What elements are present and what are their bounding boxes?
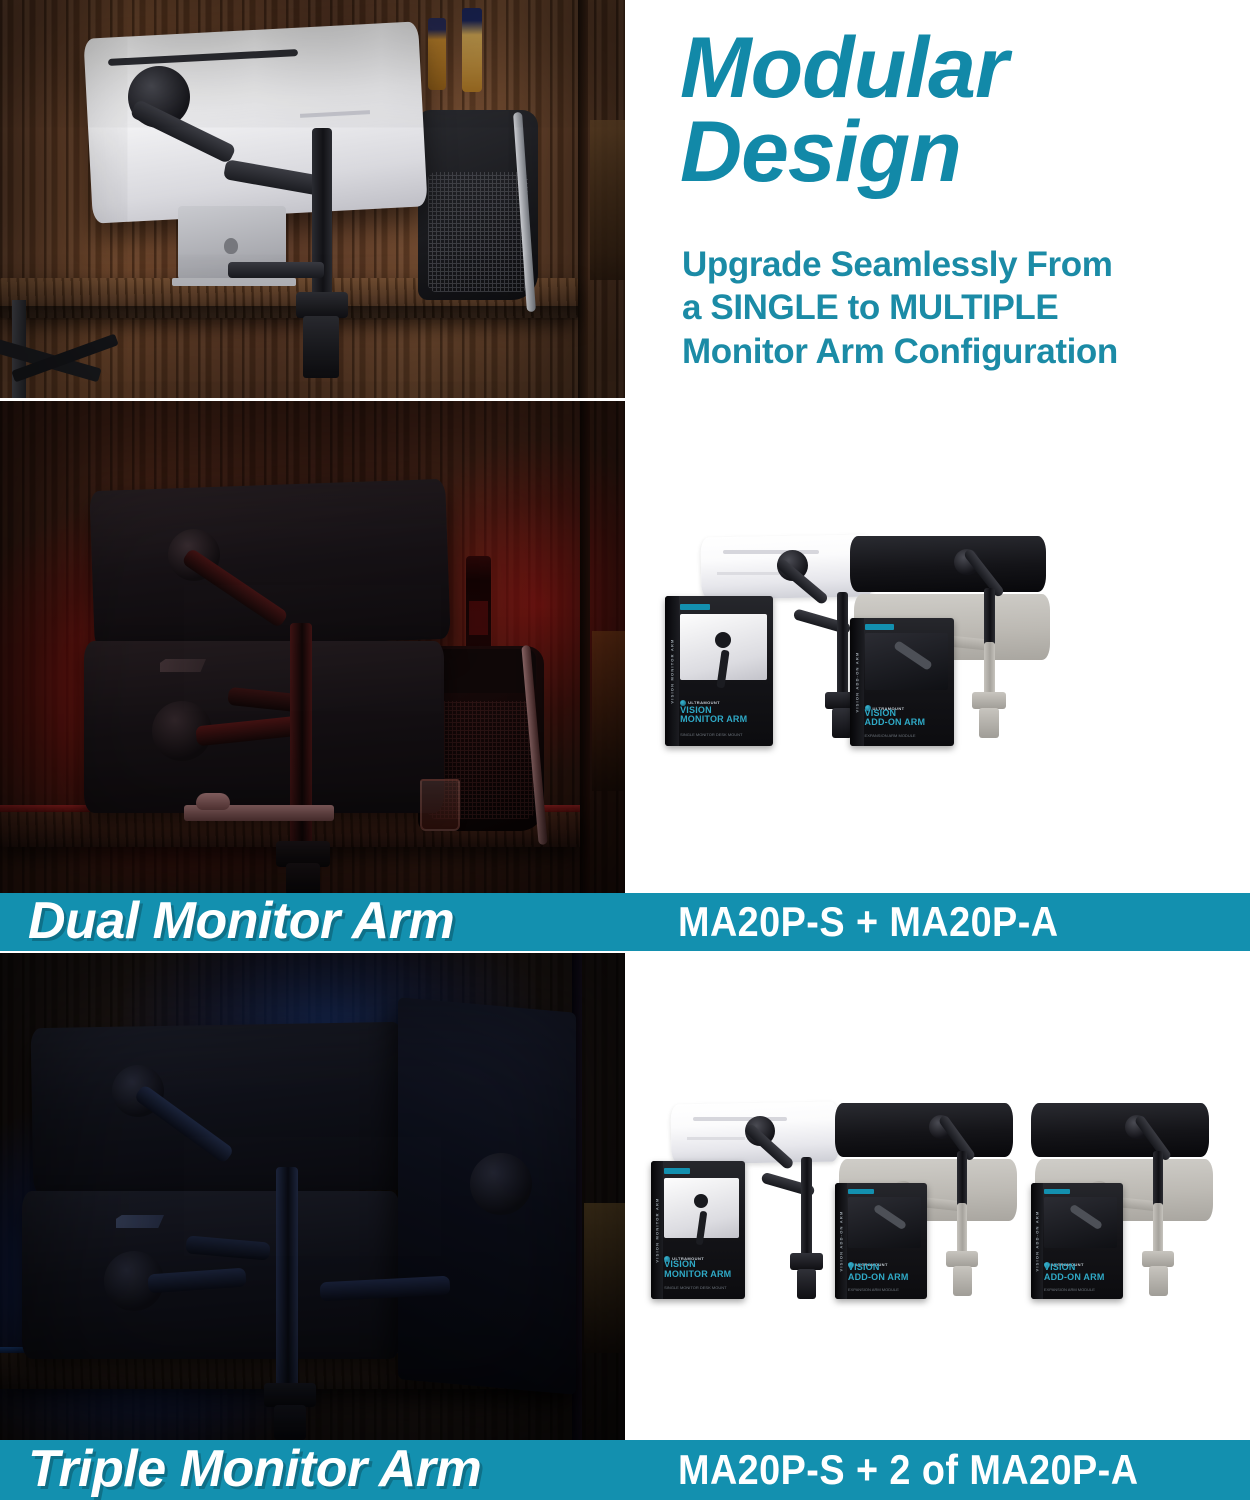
page-title: Modular Design [680, 26, 1240, 195]
package-spine: VISION MONITOR ARM [665, 596, 679, 746]
package-box-addon-t3: VISION ADD-ON ARM ULTRAMOUNT VISION ADD-… [1031, 1183, 1123, 1299]
package-spine-text: VISION MONITOR ARM [670, 638, 675, 703]
photo-dual-monitor [0, 401, 625, 895]
banner-dual: Dual Monitor Arm MA20P-S + MA20P-A [0, 893, 1250, 951]
banner-dual-title: Dual Monitor Arm [28, 891, 454, 951]
config-row-dual: VISION MONITOR ARM ULTRAMOUNT VISION MON… [625, 401, 1250, 893]
config-item-dual-2: VISION ADD-ON ARM ULTRAMOUNT VISION ADD-… [850, 536, 1080, 766]
config-item-triple-3: VISION ADD-ON ARM ULTRAMOUNT VISION ADD-… [1031, 1103, 1231, 1333]
subhead-line-3: Monitor Arm Configuration [682, 330, 1250, 373]
package-teal-bar-base-t [664, 1168, 690, 1174]
package-spine-text-addon-t2: VISION ADD-ON ARM [838, 1211, 843, 1272]
package-product-name: VISION MONITOR ARM [680, 706, 766, 725]
subhead-line-2: a SINGLE to MULTIPLE [682, 286, 1250, 329]
photo-vignette-blue [0, 953, 625, 1440]
config-post-black-t3 [1153, 1151, 1163, 1207]
config-item-triple-1: VISION MONITOR ARM ULTRAMOUNT VISION MON… [651, 1103, 841, 1333]
config-item-dual-1: VISION MONITOR ARM ULTRAMOUNT VISION MON… [665, 536, 875, 766]
config-clamp-ghost-t3 [1142, 1251, 1174, 1267]
package-spine-addon-t2: VISION ADD-ON ARM [835, 1183, 847, 1299]
package-spine-text-base-t: VISION MONITOR ARM [655, 1197, 660, 1262]
package-product-name-base-t: VISION MONITOR ARM [664, 1260, 739, 1279]
package-teal-bar-addon [865, 624, 894, 629]
photo-vignette-red [0, 401, 625, 895]
package-tagline-addon: EXPANSION ARM MODULE [865, 734, 948, 738]
config-post-ghost-t2 [957, 1203, 967, 1255]
package-product-name-addon-t2: VISION ADD-ON ARM [848, 1263, 922, 1282]
config-post-ghost [984, 642, 995, 698]
config-monitor-black-t3 [1031, 1103, 1209, 1157]
package-tagline: SINGLE MONITOR DESK MOUNT [680, 733, 766, 737]
config-monitor-white-accent [717, 572, 779, 575]
banner-dual-sku: MA20P-S + MA20P-A [678, 898, 1101, 946]
package-spine-addon: VISION ADD-ON ARM [850, 618, 864, 746]
package-teal-bar [680, 604, 710, 610]
config-clamp-t [790, 1253, 823, 1270]
config-clamp-screw [832, 708, 852, 738]
package-window-addon [865, 633, 948, 689]
headline-line-2: Design [680, 110, 1240, 194]
config-monitor-white-slot-t [693, 1117, 787, 1121]
config-item-triple-2: VISION ADD-ON ARM ULTRAMOUNT VISION ADD-… [835, 1103, 1035, 1333]
config-post-t [801, 1157, 812, 1259]
config-post-black-t2 [957, 1151, 967, 1207]
config-post-ghost-t3 [1153, 1203, 1163, 1255]
package-box-addon: VISION ADD-ON ARM ULTRAMOUNT VISION ADD-… [850, 618, 954, 746]
banner-triple-title: Triple Monitor Arm [28, 1439, 481, 1499]
photo-triple-monitor [0, 953, 625, 1440]
package-teal-bar-addon-t3 [1044, 1189, 1070, 1194]
config-clamp-screw-ghost-t2 [953, 1266, 972, 1296]
config-clamp-screw-t [797, 1269, 816, 1299]
package-spine-text-addon: VISION ADD-ON ARM [854, 652, 859, 713]
config-clamp-screw-ghost [979, 708, 999, 738]
package-box-base: VISION MONITOR ARM ULTRAMOUNT VISION MON… [665, 596, 773, 746]
package-window-addon-t2 [848, 1197, 922, 1248]
package-spine-base-t: VISION MONITOR ARM [651, 1161, 663, 1299]
package-spine-text-addon-t3: VISION ADD-ON ARM [1034, 1211, 1039, 1272]
config-clamp-ghost-t2 [946, 1251, 978, 1267]
infographic-page: Dual Monitor Arm MA20P-S + MA20P-A VISIO… [0, 0, 1250, 1500]
package-spine-addon-t3: VISION ADD-ON ARM [1031, 1183, 1043, 1299]
config-post-black [984, 588, 995, 646]
config-monitor-white-accent-t [687, 1137, 745, 1140]
config-row-triple: VISION MONITOR ARM ULTRAMOUNT VISION MON… [625, 953, 1250, 1440]
page-subtitle: Upgrade Seamlessly From a SINGLE to MULT… [682, 243, 1250, 373]
package-window-arm [715, 632, 731, 648]
config-monitor-white-slot [723, 550, 819, 554]
config-monitor-black-t2 [835, 1103, 1013, 1157]
package-tagline-base-t: SINGLE MONITOR DESK MOUNT [664, 1286, 739, 1290]
photo-single-monitor [0, 0, 625, 400]
package-tagline-addon-t2: EXPANSION ARM MODULE [848, 1288, 922, 1292]
headline-block: Modular Design Upgrade Seamlessly From a… [625, 0, 1250, 400]
package-box-addon-t2: VISION ADD-ON ARM ULTRAMOUNT VISION ADD-… [835, 1183, 927, 1299]
package-teal-bar-addon-t2 [848, 1189, 874, 1194]
package-box-base-t: VISION MONITOR ARM ULTRAMOUNT VISION MON… [651, 1161, 745, 1299]
config-monitor-black [850, 536, 1046, 592]
package-tagline-addon-t3: EXPANSION ARM MODULE [1044, 1288, 1118, 1292]
photo-vignette [0, 0, 625, 400]
config-clamp-ghost [972, 692, 1006, 709]
config-post [837, 592, 848, 698]
package-product-name-addon: VISION ADD-ON ARM [865, 709, 948, 728]
package-window-addon-t3 [1044, 1197, 1118, 1248]
banner-triple: Triple Monitor Arm MA20P-S + 2 of MA20P-… [0, 1440, 1250, 1500]
banner-triple-sku: MA20P-S + 2 of MA20P-A [678, 1446, 1190, 1494]
subhead-line-1: Upgrade Seamlessly From [682, 243, 1250, 286]
package-product-name-addon-t3: VISION ADD-ON ARM [1044, 1263, 1118, 1282]
headline-line-1: Modular [680, 20, 1007, 116]
config-clamp-screw-ghost-t3 [1149, 1266, 1168, 1296]
